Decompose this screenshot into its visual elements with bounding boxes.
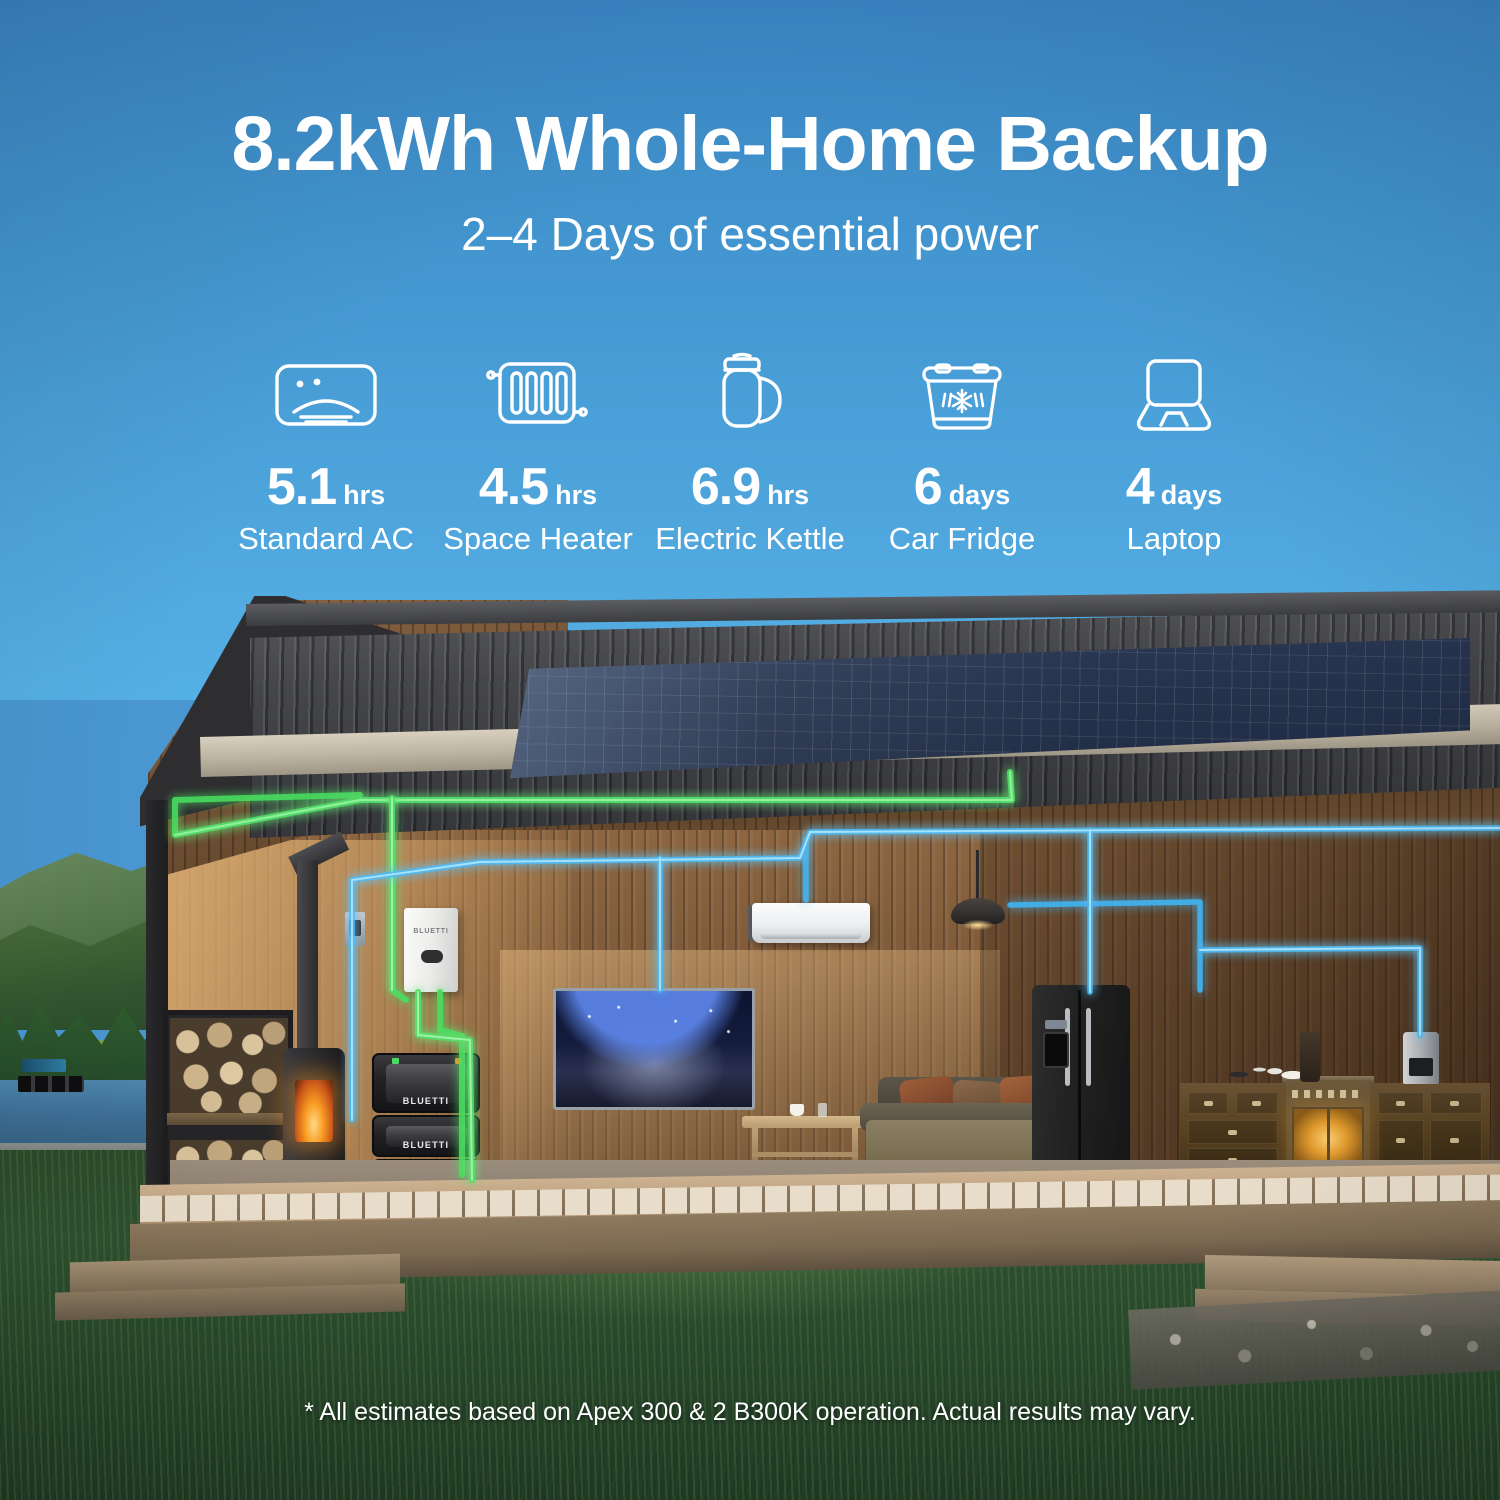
stat-number: 4.5 [479,457,548,517]
hero-section: 8.2kWh Whole-Home Backup 2–4 Days of ess… [0,0,1500,261]
car-fridge-icon [856,345,1068,445]
stat-standard-ac: 5.1 hrs Standard AC [220,345,432,557]
stat-label: Electric Kettle [644,521,856,557]
stat-unit: days [1161,480,1223,511]
stat-value: 6 days [856,457,1068,517]
stat-number: 4 [1126,457,1154,517]
stat-value: 4.5 hrs [432,457,644,517]
stat-label: Laptop [1068,521,1280,557]
stat-number: 5.1 [267,457,336,517]
stat-number: 6.9 [691,457,760,517]
stat-label: Car Fridge [856,521,1068,557]
stat-label: Space Heater [432,521,644,557]
stat-unit: hrs [343,480,385,511]
stat-laptop: 4 days Laptop [1068,345,1280,557]
stat-space-heater: 4.5 hrs Space Heater [432,345,644,557]
page-subtitle: 2–4 Days of essential power [0,207,1500,261]
electric-kettle-icon [644,345,856,445]
stat-electric-kettle: 6.9 hrs Electric Kettle [644,345,856,557]
stat-unit: hrs [767,480,809,511]
stat-unit: days [949,480,1011,511]
runtime-stats-row: 5.1 hrs Standard AC 4.5 hrs Space Heater [0,345,1500,557]
page-title: 8.2kWh Whole-Home Backup [0,104,1500,185]
stat-label: Standard AC [220,521,432,557]
stat-value: 5.1 hrs [220,457,432,517]
disclaimer-note: * All estimates based on Apex 300 & 2 B3… [0,1398,1500,1427]
space-heater-icon [432,345,644,445]
stat-value: 6.9 hrs [644,457,856,517]
stat-car-fridge: 6 days Car Fridge [856,345,1068,557]
laptop-icon [1068,345,1280,445]
stat-unit: hrs [555,480,597,511]
air-conditioner-icon [220,345,432,445]
stat-value: 4 days [1068,457,1280,517]
stat-number: 6 [914,457,942,517]
